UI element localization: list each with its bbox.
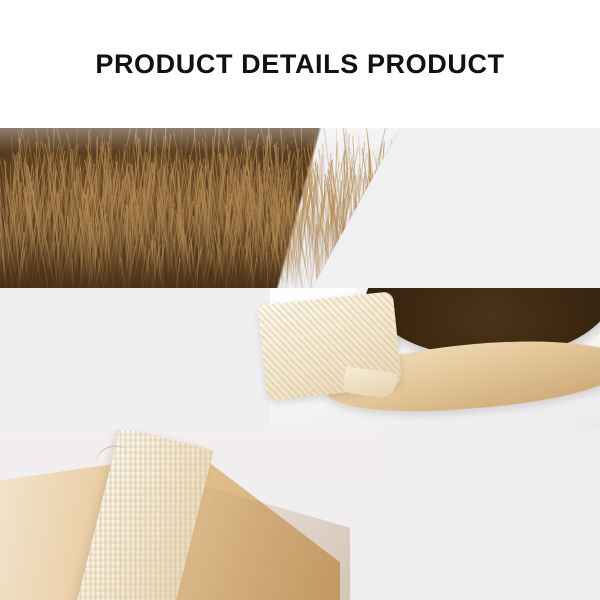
- detail-section-3: 3 THE STRUCTURE: [0, 430, 600, 600]
- section-2-image: [270, 288, 600, 430]
- product-details-page: PRODUCT DETAILS PRODUCT 1 THE STRUCTURE …: [0, 0, 600, 600]
- detail-section-1: 1 THE STRUCTURE: [0, 128, 600, 288]
- detail-section-2: 2 THE STRUCTURE: [0, 288, 600, 430]
- section-1-image: [0, 128, 600, 288]
- page-title: PRODUCT DETAILS PRODUCT: [95, 49, 504, 80]
- section-3-image: [0, 430, 380, 600]
- bristle-macro-photo: [0, 128, 400, 288]
- bristle-texture: [0, 128, 400, 288]
- page-header: PRODUCT DETAILS PRODUCT: [0, 0, 600, 128]
